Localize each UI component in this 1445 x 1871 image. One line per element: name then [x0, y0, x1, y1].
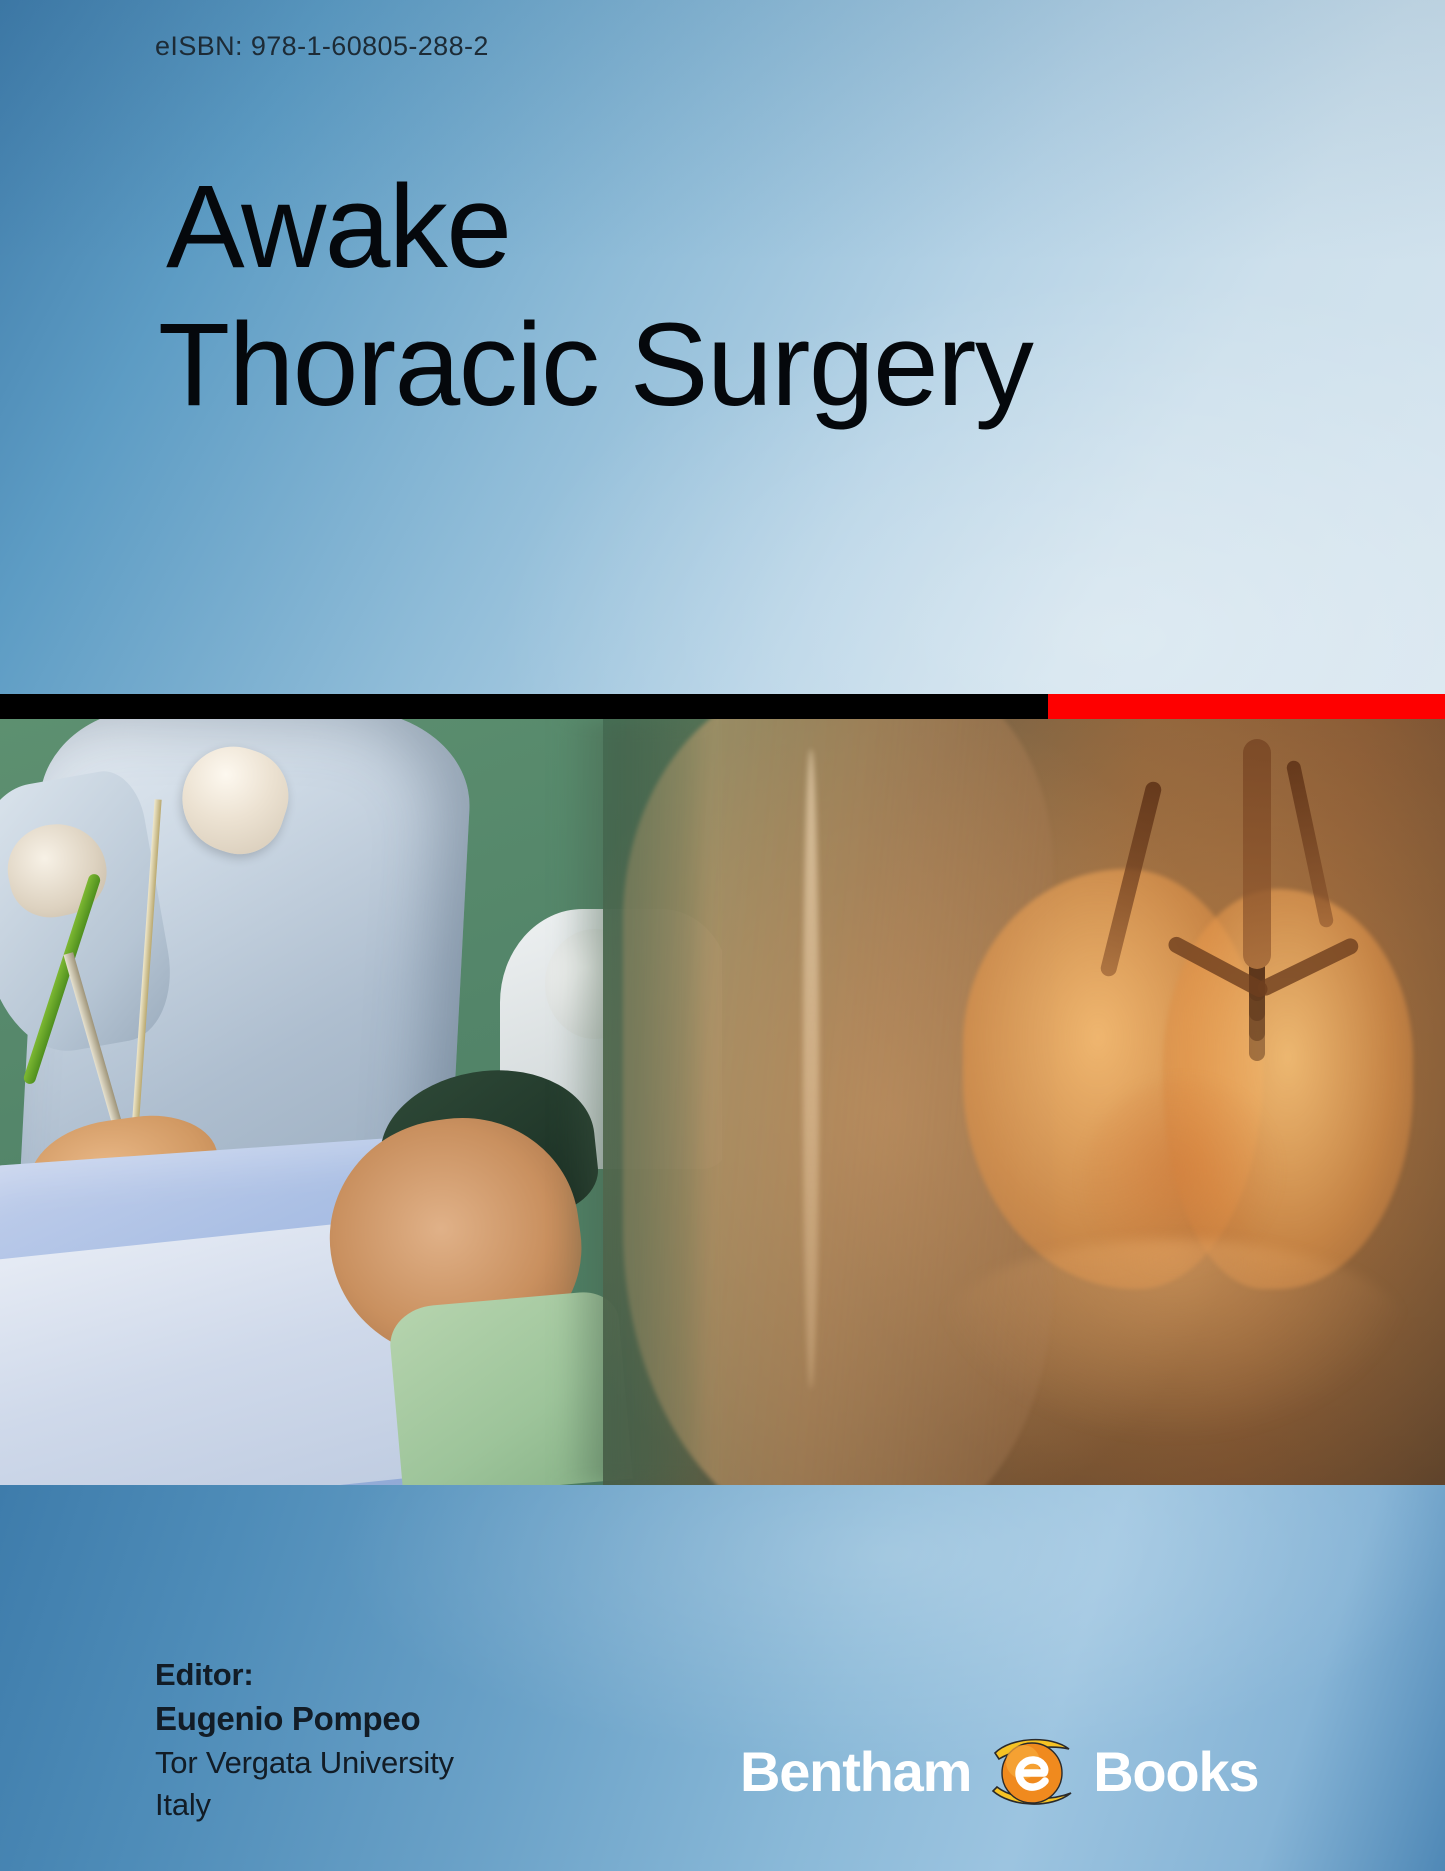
anatomy-spine — [803, 749, 819, 1389]
divider-rule — [0, 694, 1445, 719]
patient-gown — [387, 1289, 633, 1485]
bentham-e-icon — [989, 1729, 1075, 1815]
divider-rule-black — [0, 694, 1048, 719]
anatomy-illustration — [603, 719, 1445, 1485]
publisher-name-bentham: Bentham — [740, 1744, 971, 1800]
book-cover: eISBN: 978-1-60805-288-2 Awake Thoracic … — [0, 0, 1445, 1871]
anatomy-trachea — [1243, 739, 1271, 969]
title-line-2: Thoracic Surgery — [158, 308, 1032, 424]
divider-rule-red — [1048, 694, 1445, 719]
publisher-logo: Bentham Books — [740, 1735, 1258, 1809]
editor-country: Italy — [155, 1785, 454, 1825]
eisbn-text: eISBN: 978-1-60805-288-2 — [155, 31, 489, 62]
title-line-1: Awake — [166, 170, 1032, 286]
book-title: Awake Thoracic Surgery — [158, 170, 1032, 423]
anatomy-diaphragm — [933, 1239, 1413, 1439]
editor-affiliation: Tor Vergata University — [155, 1743, 454, 1783]
editor-block: Editor: Eugenio Pompeo Tor Vergata Unive… — [155, 1655, 454, 1826]
editor-name: Eugenio Pompeo — [155, 1698, 454, 1741]
cover-photo-band — [0, 719, 1445, 1485]
editor-label: Editor: — [155, 1655, 454, 1695]
publisher-name-books: Books — [1093, 1744, 1258, 1800]
